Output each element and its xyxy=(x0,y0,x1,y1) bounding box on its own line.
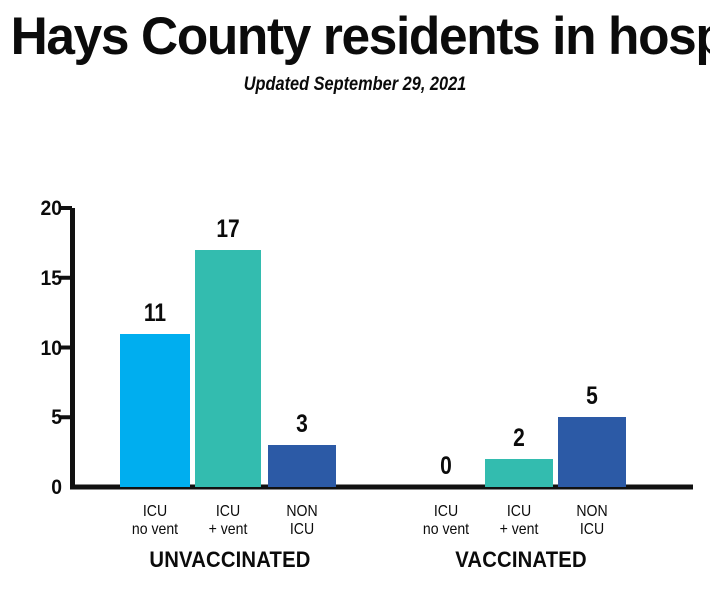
y-axis-tick: 10 xyxy=(8,338,62,359)
category-label: ICU+ vent xyxy=(477,503,561,539)
bar-chart: 05101520 11173025 ICUno ventICU+ ventNON… xyxy=(0,0,710,600)
bar xyxy=(195,250,261,487)
category-label-line2: no vent xyxy=(404,521,488,539)
bar-value-label: 17 xyxy=(200,217,255,242)
category-label-line1: NON xyxy=(260,503,344,521)
y-tick-label: 15 xyxy=(20,268,62,289)
category-label-line2: ICU xyxy=(550,521,634,539)
bar xyxy=(268,445,336,487)
category-label-line2: ICU xyxy=(260,521,344,539)
bar-value-label: 0 xyxy=(417,454,474,479)
group-label: UNVACCINATED xyxy=(115,548,345,572)
bar-value-label: 3 xyxy=(273,412,330,437)
category-label-line1: ICU xyxy=(404,503,488,521)
y-tick-label: 0 xyxy=(20,477,62,498)
y-axis-tick: 20 xyxy=(8,198,62,219)
category-label-line2: + vent xyxy=(187,521,270,539)
category-label-line1: NON xyxy=(550,503,634,521)
y-tick-label: 20 xyxy=(20,198,62,219)
y-axis-tick: 0 xyxy=(8,477,62,498)
bar xyxy=(558,417,626,487)
category-label-line1: ICU xyxy=(187,503,270,521)
category-label-line1: ICU xyxy=(112,503,198,521)
y-tick-label: 10 xyxy=(20,338,62,359)
y-axis-tick: 5 xyxy=(8,407,62,428)
bar-value-label: 11 xyxy=(126,301,185,326)
category-label: ICU+ vent xyxy=(187,503,270,539)
y-axis-tick: 15 xyxy=(8,268,62,289)
category-label: NONICU xyxy=(550,503,634,539)
category-label: NONICU xyxy=(260,503,344,539)
group-label: VACCINATED xyxy=(410,548,633,572)
bar xyxy=(485,459,553,487)
category-label-line2: no vent xyxy=(112,521,198,539)
bar xyxy=(120,334,190,487)
category-label: ICUno vent xyxy=(404,503,488,539)
bar-value-label: 5 xyxy=(563,384,620,409)
y-tick-label: 5 xyxy=(20,407,62,428)
bar-value-label: 2 xyxy=(490,426,547,451)
category-label: ICUno vent xyxy=(112,503,198,539)
category-label-line1: ICU xyxy=(477,503,561,521)
category-label-line2: + vent xyxy=(477,521,561,539)
